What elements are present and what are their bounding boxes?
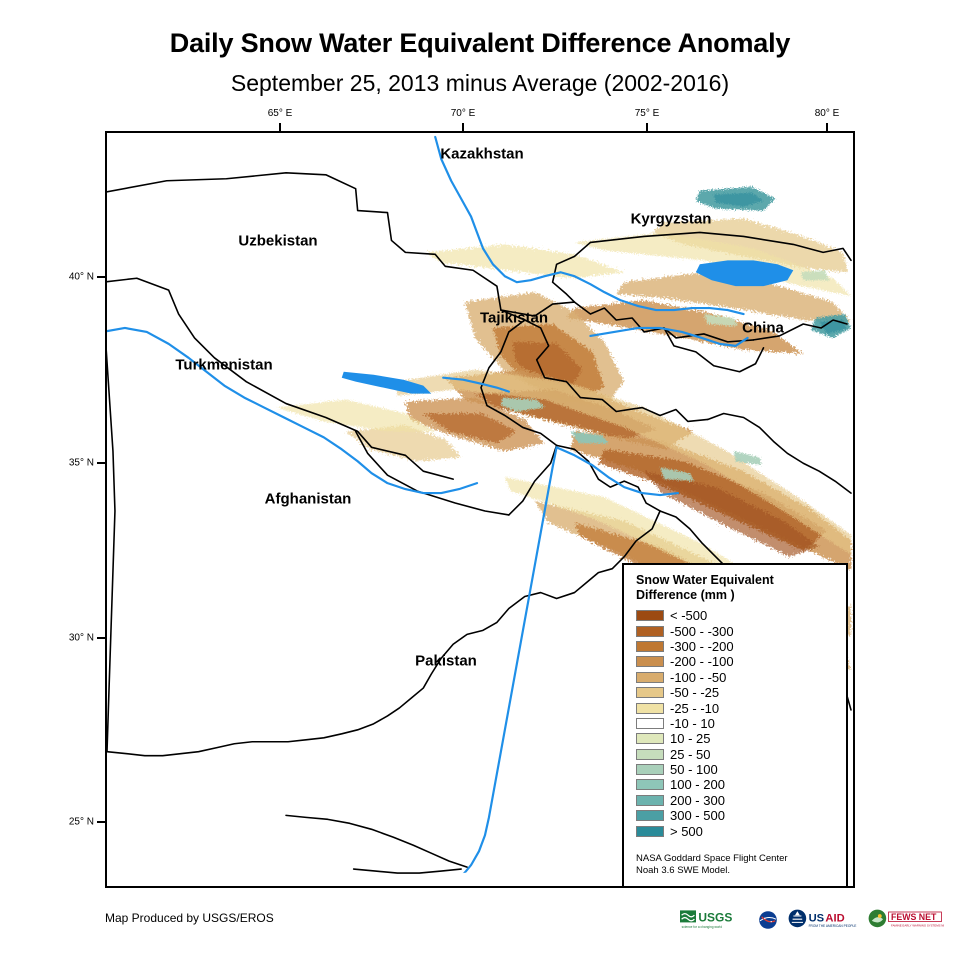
- lon-tick-label-1: 70° E: [451, 108, 476, 119]
- lat-tick-label-3: 25° N: [60, 817, 94, 828]
- svg-text:FROM THE AMERICAN PEOPLE: FROM THE AMERICAN PEOPLE: [808, 924, 856, 928]
- legend-title: Snow Water Equivalent Difference (mm ): [636, 573, 846, 603]
- legend-row: -50 - -25: [636, 685, 846, 700]
- legend-label: 10 - 25: [670, 732, 710, 745]
- lon-tick-label-0: 65° E: [268, 108, 293, 119]
- legend-swatch: [636, 733, 664, 744]
- legend-swatch: [636, 687, 664, 698]
- legend-label: 200 - 300: [670, 794, 725, 807]
- legend-row: 10 - 25: [636, 731, 846, 746]
- lon-tick-2: [646, 123, 648, 131]
- legend-row: -100 - -50: [636, 670, 846, 685]
- legend-swatch: [636, 718, 664, 729]
- lon-tick-label-3: 80° E: [815, 108, 840, 119]
- page-title: Daily Snow Water Equivalent Difference A…: [0, 28, 960, 59]
- agency-logos: USGS science for a changing world US AID…: [680, 908, 944, 932]
- lat-tick-label-1: 35° N: [60, 458, 94, 469]
- legend-row: -25 - -10: [636, 700, 846, 715]
- usgs-logo: USGS science for a changing world: [680, 908, 749, 932]
- nasa-logo: [756, 908, 780, 932]
- legend-class-list: < -500-500 - -300-300 - -200-200 - -100-…: [636, 608, 846, 839]
- legend-swatch: [636, 795, 664, 806]
- legend-label: -200 - -100: [670, 655, 734, 668]
- map-legend: Snow Water Equivalent Difference (mm ) <…: [622, 563, 848, 888]
- lon-tick-label-2: 75° E: [635, 108, 660, 119]
- legend-title-line1: Snow Water Equivalent: [636, 573, 846, 588]
- legend-row: 200 - 300: [636, 793, 846, 808]
- legend-label: < -500: [670, 609, 707, 622]
- legend-label: -25 - -10: [670, 702, 719, 715]
- legend-label: -100 - -50: [670, 671, 726, 684]
- legend-label: -500 - -300: [670, 625, 734, 638]
- lat-tick-0: [97, 276, 105, 278]
- legend-label: -50 - -25: [670, 686, 719, 699]
- fewsnet-logo: FEWS NET FAMINE EARLY WARNING SYSTEMS NE…: [867, 908, 944, 932]
- lat-tick-label-0: 40° N: [60, 272, 94, 283]
- svg-text:FAMINE EARLY WARNING SYSTEMS N: FAMINE EARLY WARNING SYSTEMS NETWORK: [891, 923, 944, 927]
- lon-tick-3: [826, 123, 828, 131]
- legend-swatch: [636, 641, 664, 652]
- legend-row: -500 - -300: [636, 623, 846, 638]
- lon-tick-0: [279, 123, 281, 131]
- legend-row: 300 - 500: [636, 808, 846, 823]
- legend-swatch: [636, 610, 664, 621]
- legend-label: -10 - 10: [670, 717, 715, 730]
- legend-row: > 500: [636, 823, 846, 838]
- usaid-logo: US AID FROM THE AMERICAN PEOPLE: [787, 908, 861, 932]
- footer-credit: Map Produced by USGS/EROS: [105, 911, 274, 925]
- svg-text:USGS: USGS: [698, 911, 732, 925]
- legend-row: -300 - -200: [636, 639, 846, 654]
- legend-swatch: [636, 656, 664, 667]
- page-subtitle: September 25, 2013 minus Average (2002-2…: [0, 70, 960, 97]
- legend-row: 25 - 50: [636, 747, 846, 762]
- legend-swatch: [636, 826, 664, 837]
- lat-tick-label-2: 30° N: [60, 633, 94, 644]
- legend-label: 300 - 500: [670, 809, 725, 822]
- legend-swatch: [636, 672, 664, 683]
- lat-tick-2: [97, 637, 105, 639]
- legend-row: 100 - 200: [636, 777, 846, 792]
- legend-row: < -500: [636, 608, 846, 623]
- legend-swatch: [636, 764, 664, 775]
- legend-swatch: [636, 703, 664, 714]
- svg-text:science for a changing world: science for a changing world: [682, 925, 723, 929]
- legend-label: > 500: [670, 825, 703, 838]
- legend-row: -10 - 10: [636, 716, 846, 731]
- legend-row: 50 - 100: [636, 762, 846, 777]
- legend-swatch: [636, 626, 664, 637]
- svg-text:FEWS NET: FEWS NET: [891, 912, 937, 922]
- lon-tick-1: [462, 123, 464, 131]
- lat-tick-3: [97, 821, 105, 823]
- legend-swatch: [636, 810, 664, 821]
- legend-label: -300 - -200: [670, 640, 734, 653]
- legend-label: 25 - 50: [670, 748, 710, 761]
- legend-swatch: [636, 749, 664, 760]
- legend-title-line2: Difference (mm ): [636, 588, 846, 603]
- lat-tick-1: [97, 462, 105, 464]
- legend-label: 50 - 100: [670, 763, 718, 776]
- legend-label: 100 - 200: [670, 778, 725, 791]
- legend-row: -200 - -100: [636, 654, 846, 669]
- svg-text:US: US: [808, 913, 824, 925]
- legend-swatch: [636, 779, 664, 790]
- svg-text:AID: AID: [825, 913, 844, 925]
- legend-source-note: NASA Goddard Space Flight Center Noah 3.…: [636, 853, 788, 877]
